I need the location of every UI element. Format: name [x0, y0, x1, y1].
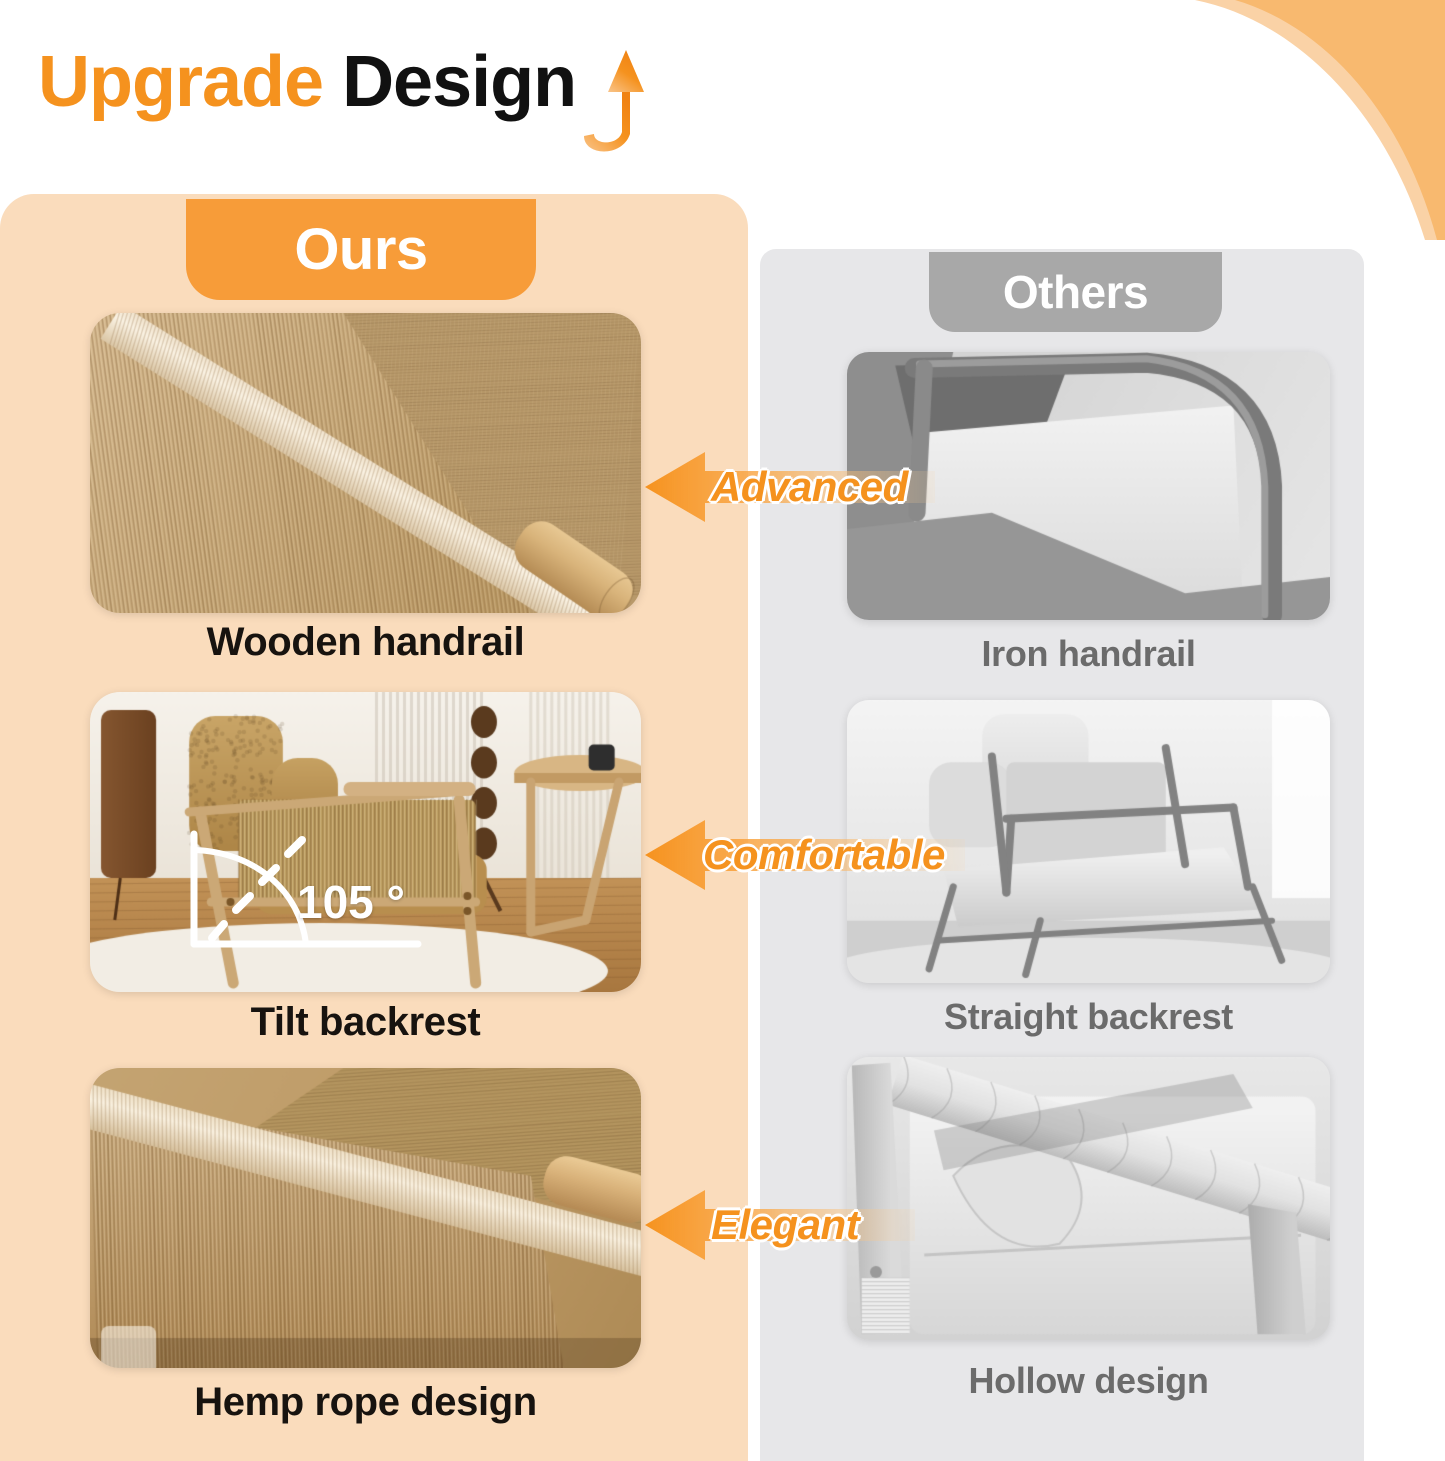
others-caption-1: Iron handrail — [847, 633, 1330, 675]
ours-image-3 — [90, 1068, 641, 1368]
others-image-2 — [847, 700, 1330, 983]
ours-badge: Ours — [186, 199, 536, 300]
ours-image-1 — [90, 313, 641, 613]
tilt-angle-value-text: 105 ° — [297, 876, 405, 928]
others-caption-3-text: Hollow design — [968, 1360, 1208, 1401]
curved-up-arrow-icon — [578, 48, 648, 158]
ours-caption-1-text: Wooden handrail — [207, 620, 525, 664]
ours-caption-3: Hemp rope design — [90, 1380, 641, 1425]
ours-caption-2-text: Tilt backrest — [251, 1000, 481, 1044]
others-caption-1-text: Iron handrail — [981, 633, 1195, 674]
others-caption-2-text: Straight backrest — [944, 996, 1233, 1037]
others-badge-label: Others — [1003, 265, 1148, 319]
tilt-angle-value: 105 ° — [297, 875, 405, 929]
corner-swoosh-decoration — [1085, 0, 1445, 240]
title-rest: Design — [342, 42, 576, 122]
others-caption-3: Hollow design — [847, 1360, 1330, 1402]
others-caption-2: Straight backrest — [847, 996, 1330, 1038]
title-highlight: Upgrade — [38, 42, 323, 122]
others-image-1 — [847, 352, 1330, 620]
others-image-3 — [847, 1057, 1330, 1340]
ours-image-2 — [90, 692, 641, 992]
page-title: Upgrade Design — [38, 46, 648, 158]
ours-caption-3-text: Hemp rope design — [194, 1380, 537, 1424]
ours-caption-2: Tilt backrest — [90, 1000, 641, 1045]
ours-caption-1: Wooden handrail — [90, 620, 641, 665]
ours-badge-label: Ours — [294, 216, 427, 283]
others-badge: Others — [929, 252, 1222, 332]
infographic-root: Upgrade Design Ours Others Wooden handra… — [0, 0, 1445, 1461]
